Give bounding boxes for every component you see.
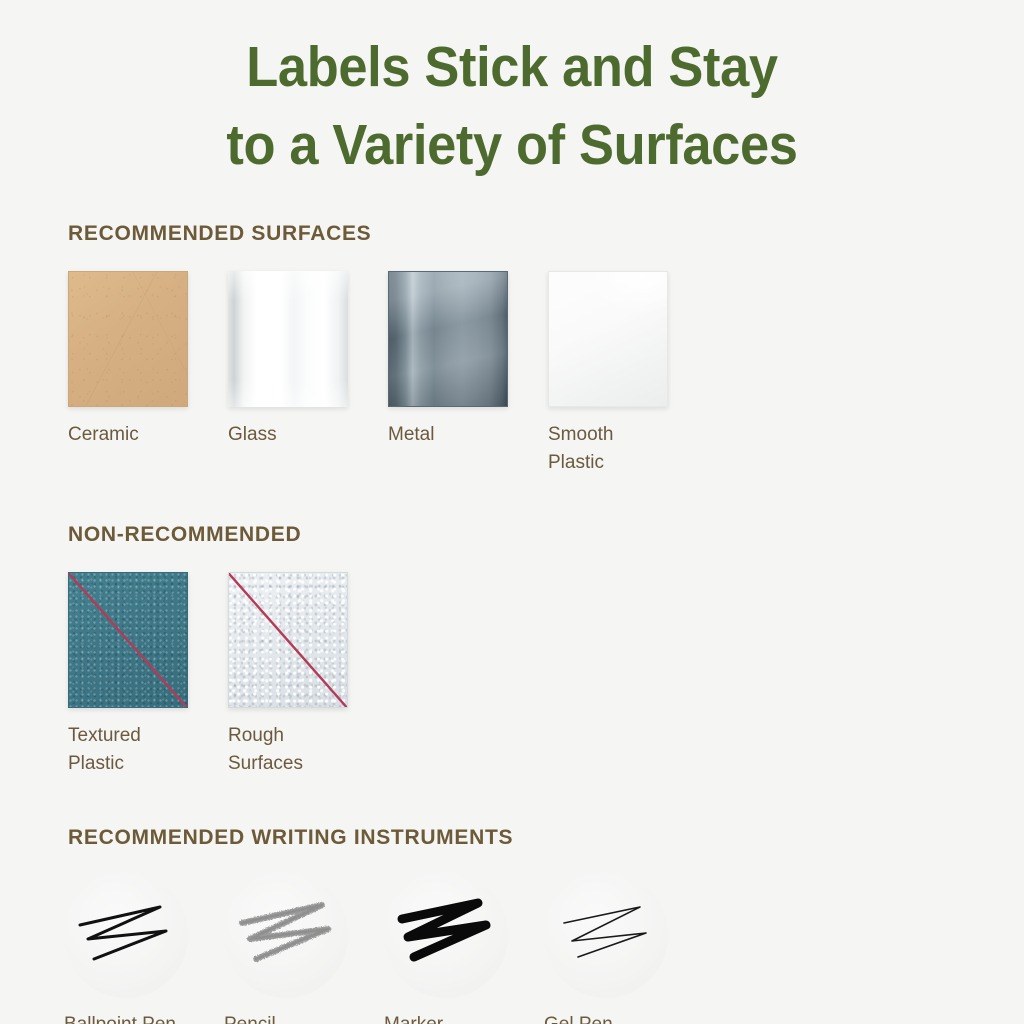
section-header-recommended-surfaces: RECOMMENDED SURFACES <box>0 222 1024 246</box>
strikethrough-icon <box>68 572 188 708</box>
gel-pen-scribble-path <box>554 893 658 977</box>
marker-scribble-icon <box>384 872 508 998</box>
writing-instrument-item-pencil: Pencil <box>224 872 384 1024</box>
recommended-surfaces-row: Ceramic Glass Metal SmoothPlastic <box>0 271 1024 477</box>
surface-label-ceramic: Ceramic <box>68 421 188 449</box>
surface-label-metal: Metal <box>388 421 508 449</box>
page-title-line-2: to a Variety of Surfaces <box>41 106 983 184</box>
glass-swatch-icon <box>228 271 348 407</box>
surface-label-textured-plastic: TexturedPlastic <box>68 722 188 778</box>
writing-instrument-item-marker: Marker <box>384 872 544 1024</box>
non-recommended-row: TexturedPlastic RoughSurfaces <box>0 572 1024 778</box>
smooth-plastic-swatch-icon <box>548 271 668 407</box>
pencil-scribble-path <box>234 893 338 977</box>
marker-scribble-path <box>394 893 498 977</box>
surface-label-smooth-plastic: SmoothPlastic <box>548 421 668 477</box>
surface-label-glass: Glass <box>228 421 348 449</box>
section-header-non-recommended: NON-RECOMMENDED <box>0 523 1024 547</box>
surface-item-smooth-plastic: SmoothPlastic <box>548 271 708 477</box>
writing-instrument-item-gel-pen: Gel Pen <box>544 872 704 1024</box>
page-title: Labels Stick and Stay to a Variety of Su… <box>0 0 1024 184</box>
metal-swatch-icon <box>388 271 508 407</box>
ceramic-swatch-icon <box>68 271 188 407</box>
surface-item-textured-plastic: TexturedPlastic <box>68 572 228 778</box>
writing-instrument-label-marker: Marker <box>384 1012 544 1024</box>
writing-instruments-row: Ballpoint Pen Pencil <box>0 872 1024 1024</box>
ballpoint-scribble-icon <box>64 872 188 998</box>
surface-item-glass: Glass <box>228 271 388 477</box>
writing-instrument-label-ballpoint-pen: Ballpoint Pen <box>64 1012 224 1024</box>
infographic-page: Labels Stick and Stay to a Variety of Su… <box>0 0 1024 1024</box>
surface-item-metal: Metal <box>388 271 548 477</box>
textured-plastic-swatch-icon <box>68 572 188 708</box>
pencil-scribble-icon <box>224 872 348 998</box>
gel-pen-scribble-icon <box>544 872 668 998</box>
ballpoint-scribble-path <box>74 893 178 977</box>
writing-instrument-item-ballpoint-pen: Ballpoint Pen <box>64 872 224 1024</box>
surface-label-rough-surfaces: RoughSurfaces <box>228 722 348 778</box>
strikethrough-icon <box>228 572 348 708</box>
section-header-writing-instruments: RECOMMENDED WRITING INSTRUMENTS <box>0 826 1024 850</box>
writing-instrument-label-pencil: Pencil <box>224 1012 384 1024</box>
surface-item-rough-surfaces: RoughSurfaces <box>228 572 388 778</box>
rough-surface-swatch-icon <box>228 572 348 708</box>
surface-item-ceramic: Ceramic <box>68 271 228 477</box>
page-title-line-1: Labels Stick and Stay <box>41 28 983 106</box>
writing-instrument-label-gel-pen: Gel Pen <box>544 1012 704 1024</box>
